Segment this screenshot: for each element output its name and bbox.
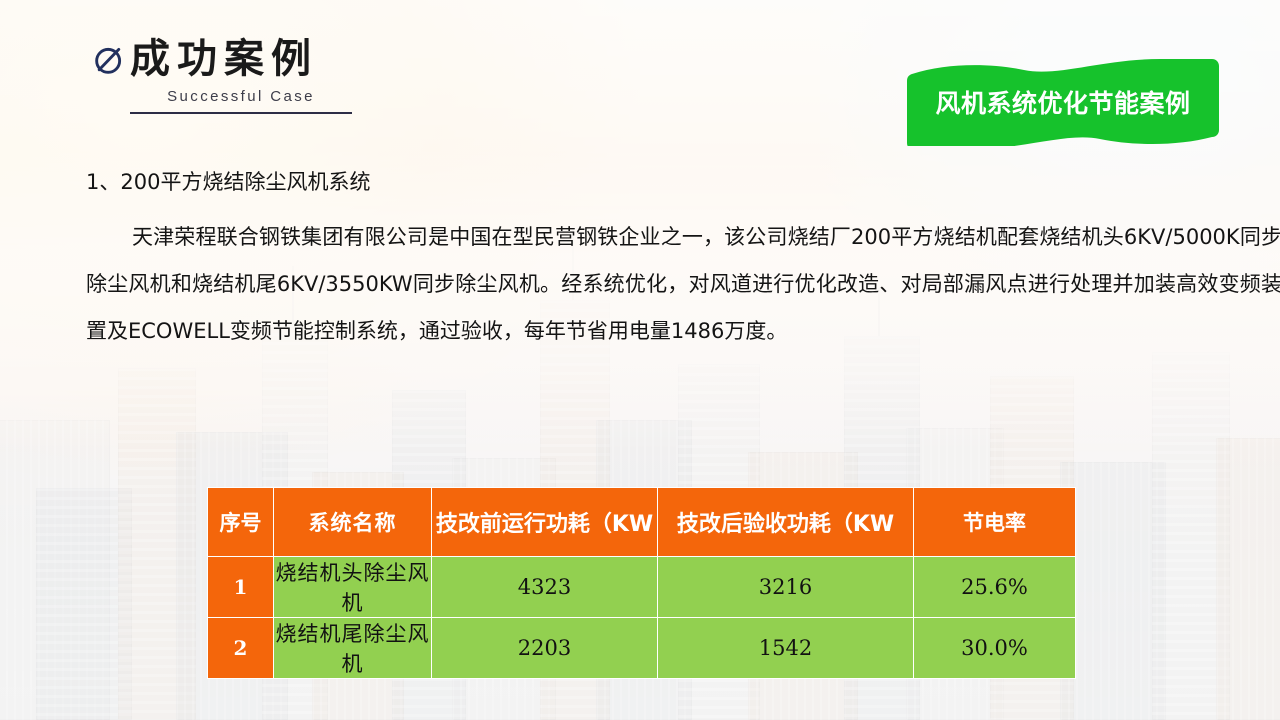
title-subtitle-block: Successful Case — [130, 88, 352, 114]
cell-system-name: 烧结机头除尘风机 — [274, 557, 432, 618]
table-header-index: 序号 — [208, 488, 274, 557]
title-divider — [130, 112, 352, 114]
page-title: 成功案例 — [130, 38, 318, 80]
results-table: 序号 系统名称 技改前运行功耗（KW 技改后验收功耗（KW 节电率 — [207, 487, 1076, 679]
section-ribbon-banner: 风机系统优化节能案例 — [906, 58, 1220, 146]
title-row: 成功案例 — [92, 38, 352, 80]
ribbon-label: 风机系统优化节能案例 — [906, 84, 1220, 120]
section-paragraph: 天津荣程联合钢铁集团有限公司是中国在型民营钢铁企业之一，该公司烧结厂200平方烧… — [86, 214, 1280, 355]
cell-power-before: 4323 — [432, 557, 658, 618]
body-content: 1、200平方烧结除尘风机系统 天津荣程联合钢铁集团有限公司是中国在型民营钢铁企… — [86, 168, 1280, 355]
page-subtitle: Successful Case — [130, 88, 352, 105]
table-header-power-before: 技改前运行功耗（KW — [432, 488, 658, 557]
section-heading: 1、200平方烧结除尘风机系统 — [86, 168, 1280, 196]
slide-header: 成功案例 Successful Case — [92, 38, 352, 114]
cell-saving-rate: 30.0% — [914, 618, 1076, 679]
circle-slash-icon — [92, 43, 126, 77]
cell-power-before: 2203 — [432, 618, 658, 679]
table-header-power-after: 技改后验收功耗（KW — [658, 488, 914, 557]
table-header-saving-rate: 节电率 — [914, 488, 1076, 557]
table-header-row: 序号 系统名称 技改前运行功耗（KW 技改后验收功耗（KW 节电率 — [208, 488, 1076, 557]
cell-power-after: 1542 — [658, 618, 914, 679]
cell-saving-rate: 25.6% — [914, 557, 1076, 618]
cell-power-after: 3216 — [658, 557, 914, 618]
results-table-wrapper: 序号 系统名称 技改前运行功耗（KW 技改后验收功耗（KW 节电率 — [207, 487, 1075, 679]
table-row: 1 烧结机头除尘风机 4323 3216 25.6% — [208, 557, 1076, 618]
table-head: 序号 系统名称 技改前运行功耗（KW 技改后验收功耗（KW 节电率 — [208, 488, 1076, 557]
cell-system-name: 烧结机尾除尘风机 — [274, 618, 432, 679]
cell-index: 1 — [208, 557, 274, 618]
cell-index: 2 — [208, 618, 274, 679]
table-body: 1 烧结机头除尘风机 4323 3216 25.6% 2 烧结机尾除尘风机 22… — [208, 557, 1076, 679]
slide-canvas: 成功案例 Successful Case 风机系统优化节能案例 1、200平方烧… — [0, 0, 1280, 720]
table-header-system-name: 系统名称 — [274, 488, 432, 557]
table-row: 2 烧结机尾除尘风机 2203 1542 30.0% — [208, 618, 1076, 679]
